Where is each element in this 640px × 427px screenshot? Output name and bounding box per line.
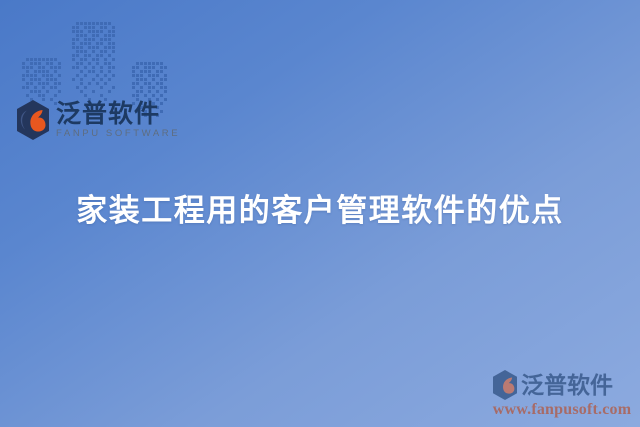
pixel-cell (22, 66, 25, 69)
pixel-cell (80, 50, 83, 53)
pixel-cell (148, 74, 151, 77)
pixel-cell (42, 86, 45, 89)
pixel-cell (148, 90, 151, 93)
pixel-cell (156, 62, 159, 65)
pixel-cell (100, 30, 103, 33)
pixel-cell (58, 66, 61, 69)
pixel-cell (152, 78, 155, 81)
pixel-cell (148, 66, 151, 69)
pixel-cell (92, 78, 95, 81)
pixel-cell (42, 94, 45, 97)
pixel-cell (58, 62, 61, 65)
pixel-cell (108, 66, 111, 69)
pixel-cell (46, 90, 49, 93)
pixel-cell (144, 70, 147, 73)
pixel-cell (34, 74, 37, 77)
pixel-cell (112, 30, 115, 33)
pixel-cell (76, 26, 79, 29)
pixel-cell (100, 94, 103, 97)
pixel-cell (92, 70, 95, 73)
pixel-cell (136, 62, 139, 65)
pixel-cell (136, 78, 139, 81)
pixel-cell (104, 74, 107, 77)
pixel-cell (100, 38, 103, 41)
pixel-cell (96, 30, 99, 33)
pixel-cell (148, 82, 151, 85)
pixel-cell (84, 38, 87, 41)
pixel-cell (156, 82, 159, 85)
pixel-cell (88, 70, 91, 73)
pixel-cell (88, 30, 91, 33)
pixel-cell (96, 42, 99, 45)
pixel-cell (164, 78, 167, 81)
pixel-cell (148, 62, 151, 65)
pixel-cell (140, 90, 143, 93)
pixel-cell (152, 86, 155, 89)
pixel-cell (72, 38, 75, 41)
watermark: 泛普软件 www.fanpusoft.com (492, 370, 632, 419)
pixel-cell (42, 82, 45, 85)
pixel-cell (54, 70, 57, 73)
pixel-cell (112, 74, 115, 77)
pixel-cell (112, 66, 115, 69)
pixel-cell (22, 86, 25, 89)
pixel-cell (54, 58, 57, 61)
pixel-cell (54, 82, 57, 85)
pixel-cell (42, 58, 45, 61)
pixel-cell (112, 42, 115, 45)
pixel-cell (30, 62, 33, 65)
pixel-cell (84, 86, 87, 89)
pixel-cell (88, 62, 91, 65)
pixel-cell (88, 26, 91, 29)
pixel-cell (132, 82, 135, 85)
pixel-cell (76, 54, 79, 57)
pixel-cell (112, 26, 115, 29)
pixel-cell (72, 30, 75, 33)
pixel-cell (46, 70, 49, 73)
pixel-cell (100, 54, 103, 57)
pixel-cell (46, 74, 49, 77)
pixel-cell (72, 78, 75, 81)
pixel-cell (112, 58, 115, 61)
pixel-cell (104, 50, 107, 53)
pixel-cell (132, 66, 135, 69)
pixel-cell (26, 86, 29, 89)
pixel-cell (92, 66, 95, 69)
pixel-cell (46, 82, 49, 85)
pixel-cell (160, 66, 163, 69)
pixel-cell (54, 66, 57, 69)
pixel-cell (108, 42, 111, 45)
watermark-fanpu-hexagon-flame-logo-icon (492, 370, 518, 400)
pixel-cell (104, 62, 107, 65)
pixel-cell (88, 22, 91, 25)
pixel-cell (92, 90, 95, 93)
pixel-cell (92, 30, 95, 33)
pixel-cell (96, 58, 99, 61)
pixel-cell (108, 34, 111, 37)
pixel-cell (144, 78, 147, 81)
pixel-cell (80, 30, 83, 33)
pixel-cell (50, 78, 53, 81)
pixel-cell (156, 90, 159, 93)
pixel-cell (26, 58, 29, 61)
watermark-logo-row: 泛普软件 (492, 370, 632, 400)
pixel-cell (30, 66, 33, 69)
pixel-cell (148, 70, 151, 73)
pixel-cell (132, 74, 135, 77)
pixel-cell (92, 26, 95, 29)
pixel-cell (84, 50, 87, 53)
pixel-cell (136, 66, 139, 69)
pixel-cell (84, 42, 87, 45)
pixel-cell (92, 58, 95, 61)
pixel-cell (96, 82, 99, 85)
pixel-cell (84, 74, 87, 77)
pixel-cell (160, 70, 163, 73)
pixel-cell (50, 66, 53, 69)
pixel-cell (26, 82, 29, 85)
pixel-cell (100, 86, 103, 89)
pixel-cell (144, 66, 147, 69)
pixel-cell (96, 34, 99, 37)
watermark-brand-name-cn: 泛普软件 (521, 374, 613, 397)
pixel-cell (108, 46, 111, 49)
pixel-cell (108, 38, 111, 41)
pixel-cell (88, 54, 91, 57)
pixel-cell (42, 74, 45, 77)
pixel-cell (84, 58, 87, 61)
pixel-cell (50, 86, 53, 89)
pixel-cell (84, 34, 87, 37)
pixel-cell (72, 42, 75, 45)
pixel-cell (22, 78, 25, 81)
pixel-cell (144, 62, 147, 65)
pixel-cell (104, 38, 107, 41)
pixel-cell (92, 22, 95, 25)
pixel-cell (140, 74, 143, 77)
brand-name-cn: 泛普软件 (56, 101, 180, 127)
pixel-cell (88, 42, 91, 45)
pixel-cell (38, 66, 41, 69)
pixel-cell (164, 86, 167, 89)
pixel-cell (164, 74, 167, 77)
pixel-cell (34, 62, 37, 65)
pixel-cell (26, 74, 29, 77)
pixel-cell (84, 66, 87, 69)
pixel-cell (54, 86, 57, 89)
pixel-skyline-decoration (22, 22, 132, 104)
pixel-cell (140, 70, 143, 73)
pixel-cell (104, 58, 107, 61)
pixel-cell (136, 94, 139, 97)
pixel-cell (160, 78, 163, 81)
pixel-cell (72, 26, 75, 29)
pixel-cell (72, 58, 75, 61)
pixel-cell (50, 62, 53, 65)
pixel-cell (160, 82, 163, 85)
fanpu-hexagon-flame-logo-icon (16, 100, 50, 140)
pixel-cell (38, 82, 41, 85)
pixel-cell (152, 74, 155, 77)
pixel-cell (144, 94, 147, 97)
pixel-cell (108, 54, 111, 57)
pixel-cell (30, 58, 33, 61)
pixel-cell (30, 90, 33, 93)
pixel-cell (84, 26, 87, 29)
pixel-cell (112, 86, 115, 89)
pixel-cell (80, 78, 83, 81)
watermark-url: www.fanpusoft.com (492, 401, 632, 419)
pixel-cell (104, 46, 107, 49)
pixel-cell (22, 74, 25, 77)
pixel-cell (92, 38, 95, 41)
pixel-cell (152, 66, 155, 69)
pixel-cell (38, 62, 41, 65)
pixel-cell (104, 82, 107, 85)
pixel-cell (100, 42, 103, 45)
pixel-cell (96, 74, 99, 77)
pixel-cell (80, 22, 83, 25)
pixel-cell (42, 70, 45, 73)
pixel-cell (144, 82, 147, 85)
pixel-cell (112, 34, 115, 37)
pixel-cell (72, 66, 75, 69)
pixel-cell (136, 74, 139, 77)
pixel-cell (34, 86, 37, 89)
pixel-cell (76, 30, 79, 33)
pixel-cell (92, 46, 95, 49)
pixel-cell (50, 58, 53, 61)
pixel-cell (156, 74, 159, 77)
pixel-cell (100, 50, 103, 53)
pixel-cell (26, 70, 29, 73)
pixel-cell (96, 62, 99, 65)
pixel-cell (152, 94, 155, 97)
pixel-cell (34, 90, 37, 93)
pixel-cell (108, 62, 111, 65)
pixel-cell (80, 34, 83, 37)
pixel-cell (152, 62, 155, 65)
pixel-cell (80, 90, 83, 93)
brand-name-en: FANPU SOFTWARE (56, 128, 180, 139)
brand-logo: 泛普软件 FANPU SOFTWARE (16, 100, 180, 140)
pixel-cell (100, 26, 103, 29)
pixel-cell (140, 78, 143, 81)
pixel-cell (80, 42, 83, 45)
pixel-cell (108, 22, 111, 25)
pixel-cell (72, 54, 75, 57)
pixel-cell (80, 46, 83, 49)
pixel-cell (38, 94, 41, 97)
pixel-cell (30, 74, 33, 77)
page-canvas: 泛普软件 FANPU SOFTWARE 家装工程用的客户管理软件的优点 泛普软件… (0, 0, 640, 427)
pixel-cell (26, 94, 29, 97)
pixel-cell (88, 38, 91, 41)
pixel-cell (164, 66, 167, 69)
pixel-cell (104, 34, 107, 37)
pixel-cell (100, 66, 103, 69)
pixel-cell (88, 46, 91, 49)
pixel-cell (96, 54, 99, 57)
pixel-cell (140, 86, 143, 89)
pixel-cell (58, 74, 61, 77)
pixel-cell (42, 66, 45, 69)
pixel-cell (76, 86, 79, 89)
pixel-cell (76, 66, 79, 69)
pixel-cell (76, 74, 79, 77)
pixel-cell (38, 90, 41, 93)
pixel-cell (80, 70, 83, 73)
pixel-cell (34, 78, 37, 81)
pixel-cell (30, 82, 33, 85)
pixel-cell (164, 90, 167, 93)
pixel-cell (132, 70, 135, 73)
pixel-cell (80, 58, 83, 61)
pixel-cell (108, 30, 111, 33)
pixel-cell (92, 50, 95, 53)
pixel-cell (100, 70, 103, 73)
pixel-cell (136, 90, 139, 93)
pixel-cell (76, 34, 79, 37)
pixel-cell (76, 50, 79, 53)
pixel-cell (38, 58, 41, 61)
pixel-cell (104, 22, 107, 25)
pixel-cell (34, 58, 37, 61)
pixel-cell (84, 54, 87, 57)
pixel-cell (80, 82, 83, 85)
pixel-cell (112, 50, 115, 53)
pixel-cell (76, 38, 79, 41)
pixel-cell (108, 90, 111, 93)
pixel-cell (54, 78, 57, 81)
pixel-cell (92, 34, 95, 37)
pixel-cell (156, 70, 159, 73)
pixel-cell (58, 82, 61, 85)
pixel-cell (38, 78, 41, 81)
pixel-cell (104, 26, 107, 29)
pixel-cell (160, 62, 163, 65)
pixel-cell (112, 46, 115, 49)
pixel-cell (76, 46, 79, 49)
pixel-cell (136, 82, 139, 85)
pixel-cell (46, 62, 49, 65)
pixel-cell (72, 46, 75, 49)
pixel-cell (160, 94, 163, 97)
pixel-cell (30, 78, 33, 81)
pixel-cell (108, 78, 111, 81)
pixel-cell (54, 94, 57, 97)
pixel-cell (140, 62, 143, 65)
page-title: 家装工程用的客户管理软件的优点 (0, 190, 640, 232)
pixel-cell (88, 82, 91, 85)
pixel-cell (84, 22, 87, 25)
pixel-cell (132, 94, 135, 97)
pixel-cell (132, 86, 135, 89)
pixel-cell (38, 70, 41, 73)
pixel-cell (58, 90, 61, 93)
pixel-cell (22, 62, 25, 65)
pixel-cell (76, 22, 79, 25)
pixel-cell (96, 22, 99, 25)
pixel-cell (84, 94, 87, 97)
pixel-cell (80, 62, 83, 65)
brand-wordmark: 泛普软件 FANPU SOFTWARE (56, 101, 180, 140)
pixel-cell (108, 70, 111, 73)
pixel-cell (50, 74, 53, 77)
pixel-cell (96, 46, 99, 49)
pixel-cell (46, 58, 49, 61)
pixel-cell (160, 86, 163, 89)
pixel-cell (100, 78, 103, 81)
pixel-cell (34, 70, 37, 73)
pixel-cell (76, 62, 79, 65)
pixel-cell (46, 78, 49, 81)
pixel-cell (148, 86, 151, 89)
pixel-cell (26, 66, 29, 69)
pixel-cell (100, 22, 103, 25)
